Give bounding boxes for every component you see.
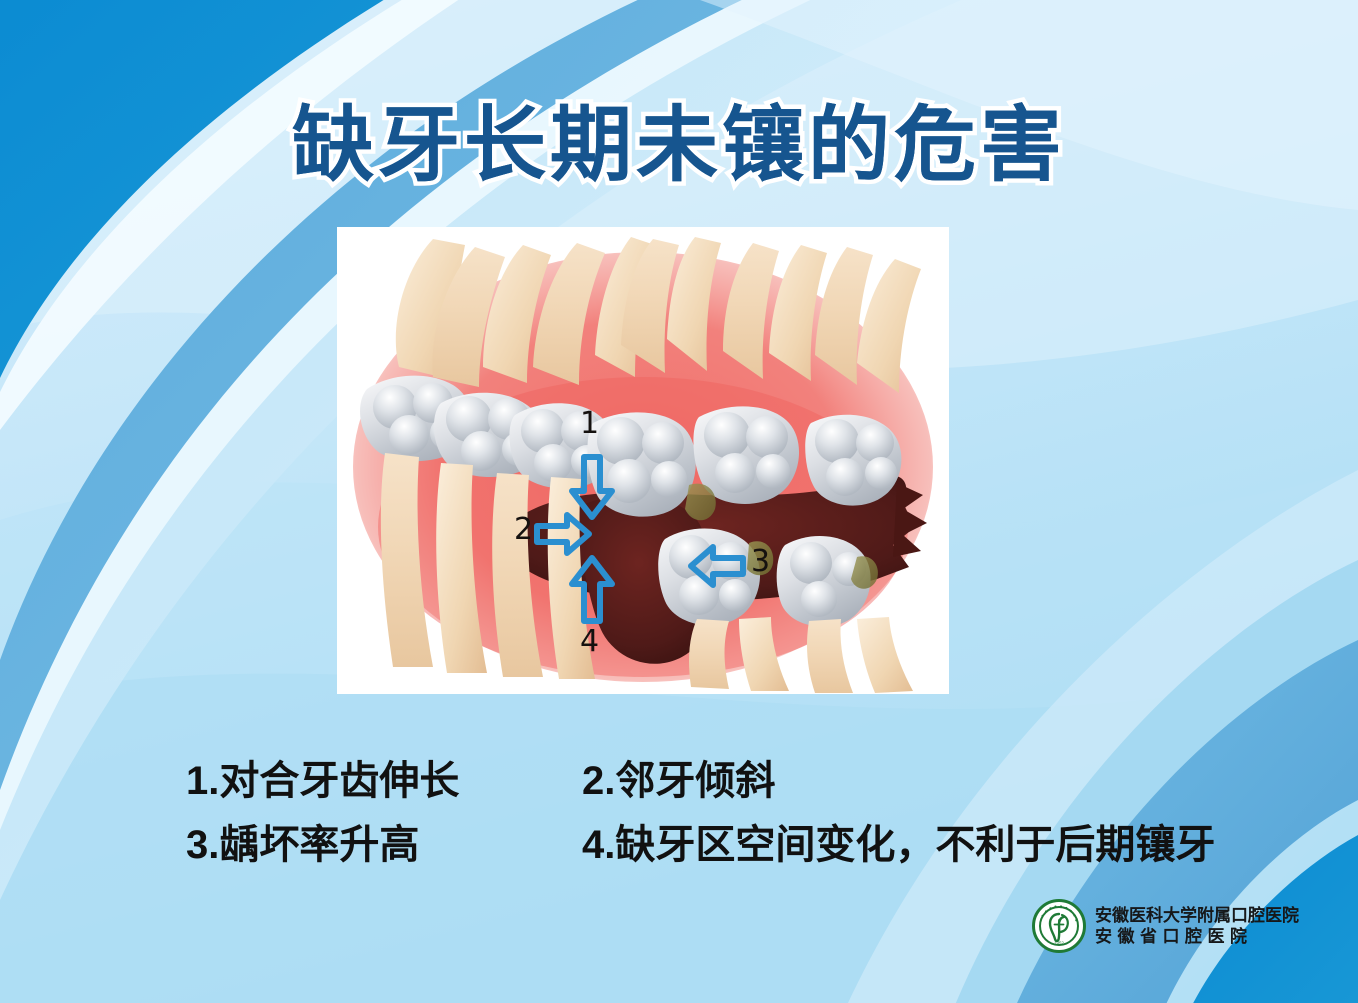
hospital-name-line2: 安徽省口腔医院: [1095, 926, 1299, 947]
hospital-seal-svg: 1952: [1032, 899, 1086, 953]
callout-number-4: 4: [580, 627, 599, 657]
slide-canvas: 缺牙长期未镶的危害 缺牙长期未镶的危害: [0, 0, 1358, 1003]
left-arrow-icon: [687, 543, 747, 589]
up-arrow-icon: [569, 553, 615, 625]
callout-number-2: 2: [514, 515, 533, 545]
hospital-logo: 1952 安徽医科大学附属口腔医院 安徽省口腔医院: [1032, 899, 1299, 953]
bullet-item-3: 3.龋坏率升高: [186, 812, 419, 870]
dental-illustration-svg: [337, 227, 949, 694]
hospital-logo-text: 安徽医科大学附属口腔医院 安徽省口腔医院: [1095, 905, 1299, 948]
bullet-item-4: 4.缺牙区空间变化，不利于后期镶牙: [582, 812, 1215, 870]
bullet-item-2: 2.邻牙倾斜: [582, 748, 775, 806]
dental-illustration: 1 2 3 4: [337, 227, 949, 694]
callout-arrow-2-right: [533, 511, 593, 557]
bullet-item-1: 1.对合牙齿伸长: [186, 748, 459, 806]
callout-number-3: 3: [751, 547, 770, 577]
hospital-name-line1: 安徽医科大学附属口腔医院: [1095, 905, 1299, 926]
right-arrow-icon: [533, 511, 593, 557]
svg-text:1952: 1952: [1054, 941, 1064, 946]
callout-arrow-3-left: [687, 543, 747, 589]
hospital-seal-icon: 1952: [1032, 899, 1086, 953]
callout-arrow-4-up: [569, 553, 615, 625]
page-title: 缺牙长期未镶的危害: [0, 78, 1358, 197]
callout-number-1: 1: [580, 409, 599, 439]
